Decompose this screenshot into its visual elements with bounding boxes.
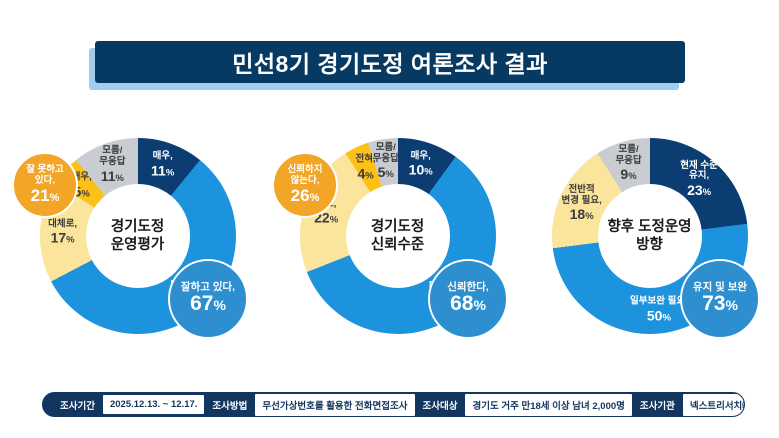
slice-label-text: 전혀, [356, 154, 376, 165]
slice-label-value: 9% [615, 167, 641, 183]
donut-center-label: 향후 도정운영 방향 [607, 218, 691, 254]
slice-label: 모름/ 무응답5% [373, 143, 399, 181]
donut-chart-future-direction: 향후 도정운영 방향현재 수준 유지,23%일부보완 필요,50%전반적 변경 … [520, 126, 779, 361]
slice-label-text: 매우, [151, 152, 174, 163]
donut-center-label: 경기도정 신뢰수준 [371, 218, 424, 254]
slice-label: 현재 수준 유지,23% [675, 161, 723, 199]
slice-label-text: 대체로, [48, 219, 77, 230]
slice-label-text: 현재 수준 유지, [675, 161, 723, 182]
donut-center: 경기도정 운영평가 [86, 184, 190, 288]
survey-meta-key: 조사기관 [633, 398, 682, 412]
page-title-banner: 민선8기 경기도정 여론조사 결과 [95, 41, 685, 83]
survey-meta-value: 2025.12.13. ~ 12.17. [103, 395, 204, 414]
donut-chart-operation-evaluation: 경기도정 운영평가매우,11%대체로,57%대체로,17%매우,5%모름/ 무응… [8, 126, 267, 361]
slice-label-value: 17% [48, 230, 77, 246]
survey-meta-value: 넥스트리서치㈜ [683, 394, 745, 416]
slice-label-value: 18% [562, 207, 602, 223]
slice-label-value: 4% [356, 166, 376, 182]
survey-meta-value: 경기도 거주 만18세 이상 남녀 2,000명 [465, 394, 631, 416]
callout-bubble-primary: 유지 및 보완73% [680, 259, 760, 339]
slice-label: 매우,11% [151, 152, 174, 179]
callout-value: 67% [190, 292, 226, 316]
callout-bubble-secondary: 신뢰하지 않는다,26% [272, 152, 338, 218]
callout-bubble-secondary: 잘 못하고 있다,21% [12, 152, 78, 218]
slice-label: 전반적 변경 필요,18% [562, 185, 602, 223]
slice-label-value: 5% [373, 165, 399, 181]
callout-label: 신뢰하지 않는다, [288, 165, 323, 187]
callout-value: 21% [31, 186, 60, 206]
callout-bubble-primary: 신뢰한다,68% [428, 259, 508, 339]
donut-center: 향후 도정운영 방향 [598, 184, 702, 288]
slice-label: 매우,10% [409, 151, 433, 178]
slice-label-value: 11% [151, 163, 174, 179]
charts-row: 경기도정 운영평가매우,11%대체로,57%대체로,17%매우,5%모름/ 무응… [0, 126, 779, 361]
survey-meta-value: 무선가상번호를 활용한 전화면접조사 [255, 394, 414, 416]
callout-value: 26% [291, 186, 320, 206]
slice-label: 모름/ 무응답11% [99, 146, 125, 184]
slice-label-text: 모름/ 무응답 [373, 143, 399, 164]
survey-meta-key: 조사대상 [416, 398, 465, 412]
slice-label: 대체로,17% [48, 219, 77, 246]
slice-label: 모름/ 무응답9% [615, 145, 641, 183]
survey-meta-bar: 조사기간2025.12.13. ~ 12.17.조사방법무선가상번호를 활용한 … [42, 392, 745, 417]
title-banner: 민선8기 경기도정 여론조사 결과 [95, 41, 685, 83]
slice-label-text: 전반적 변경 필요, [562, 185, 602, 206]
callout-value: 73% [702, 292, 738, 316]
slice-label-value: 10% [409, 163, 433, 179]
donut-center-label: 경기도정 운영평가 [111, 218, 164, 254]
survey-meta-key: 조사방법 [205, 398, 254, 412]
slice-label-text: 모름/ 무응답 [99, 146, 125, 167]
survey-meta-key: 조사기간 [53, 398, 102, 412]
callout-value: 68% [450, 292, 486, 316]
page-title: 민선8기 경기도정 여론조사 결과 [232, 45, 548, 79]
slice-label-text: 매우, [409, 151, 433, 162]
donut-center: 경기도정 신뢰수준 [346, 184, 450, 288]
callout-bubble-primary: 잘하고 있다,67% [168, 259, 248, 339]
callout-label: 잘 못하고 있다, [26, 165, 64, 187]
slice-label: 전혀,4% [356, 154, 376, 181]
donut-chart-trust-level: 경기도정 신뢰수준매우,10%대체로,59%별로,22%전혀,4%모름/ 무응답… [268, 126, 527, 361]
slice-label-value: 11% [99, 169, 125, 185]
slice-label-text: 모름/ 무응답 [615, 145, 641, 166]
slice-label-value: 50% [630, 308, 688, 324]
